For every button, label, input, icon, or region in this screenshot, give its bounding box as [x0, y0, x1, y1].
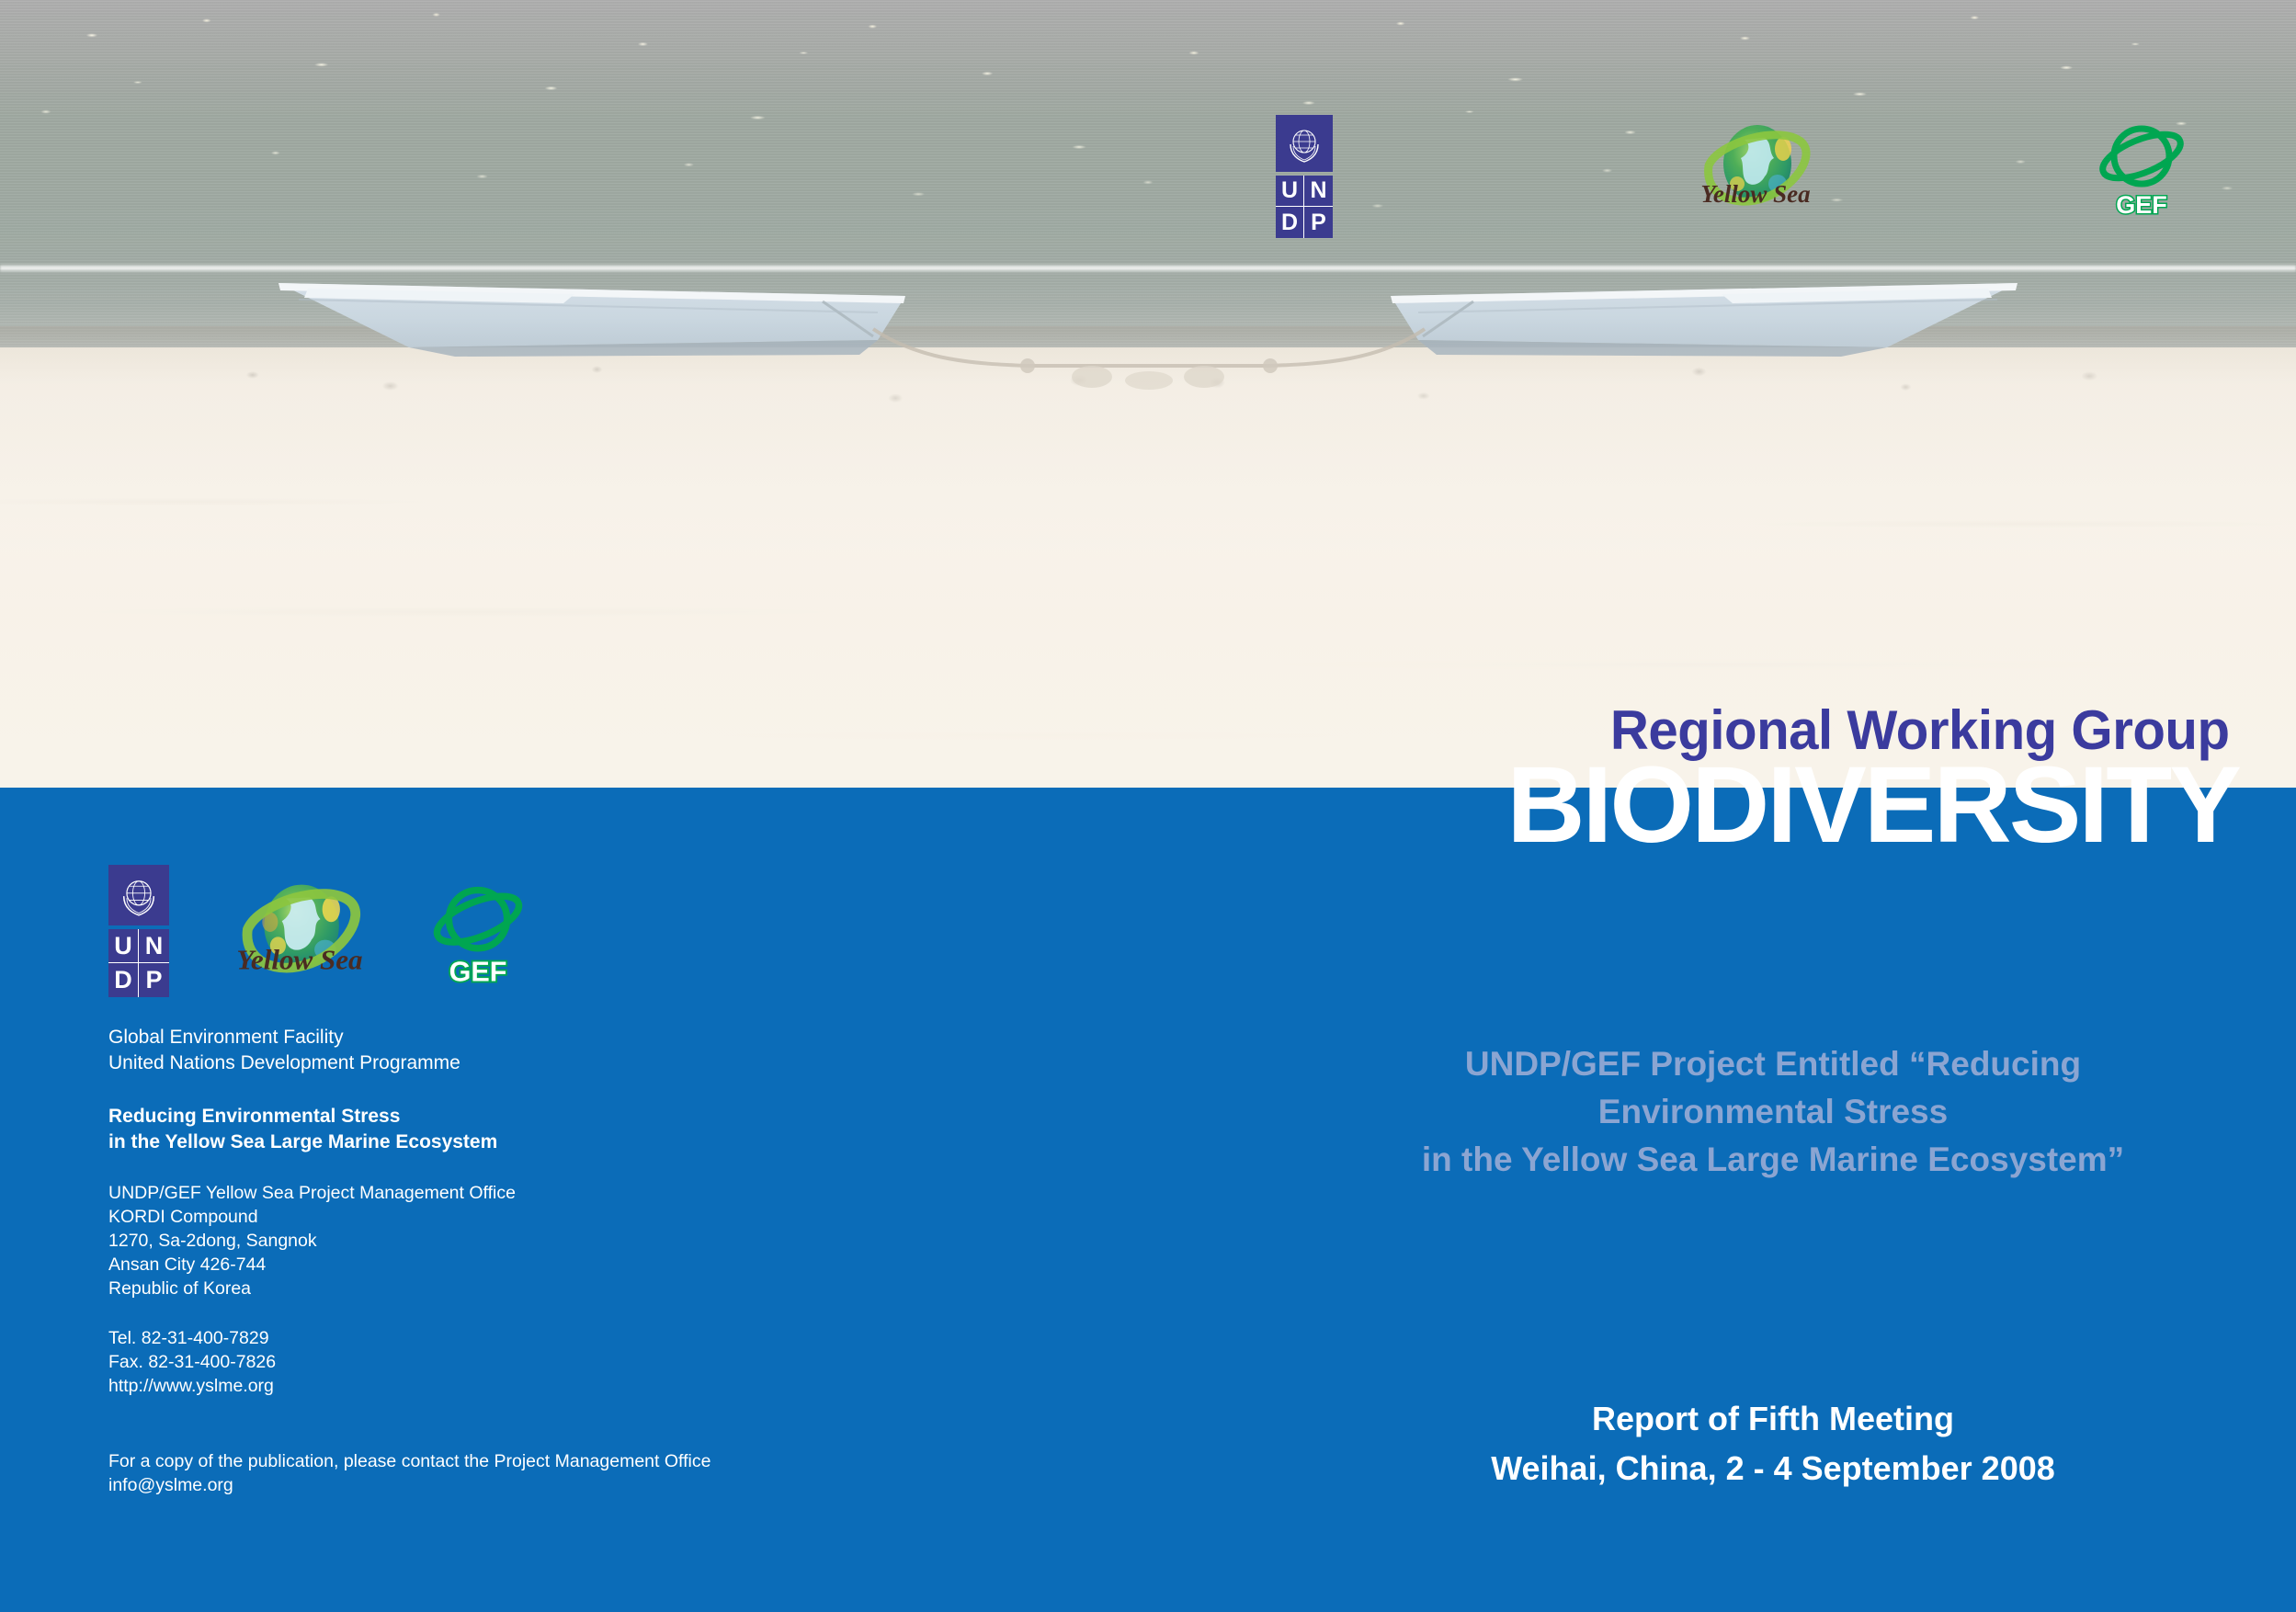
cover-photo: U N D P	[0, 0, 2296, 789]
undp-emblem-box	[1276, 115, 1333, 172]
blue-panel: U N D P	[0, 788, 2296, 1612]
email-link[interactable]: info@yslme.org	[108, 1473, 1028, 1497]
copy-notice: For a copy of the publication, please co…	[108, 1449, 1028, 1473]
yellow-sea-globe-icon: Yellow Sea	[222, 877, 377, 987]
undp-letter-n: N	[1304, 176, 1333, 207]
undp-letter-u: U	[1276, 176, 1304, 207]
undp-letters-box: U N D P	[1276, 176, 1333, 238]
sun-sparkles	[0, 0, 2296, 294]
address-line-2: KORDI Compound	[108, 1205, 1028, 1229]
organisation-block: Global Environment Facility United Natio…	[108, 1025, 1028, 1076]
project-title-line-1: UNDP/GEF Project Entitled “Reducing	[1250, 1040, 2296, 1088]
top-yellow-sea-logo: Yellow Sea	[1688, 118, 1824, 225]
boat-left	[271, 276, 915, 377]
org-line-2: United Nations Development Programme	[108, 1050, 1028, 1076]
un-emblem-icon	[116, 872, 162, 918]
yellow-sea-wordmark: Yellow Sea	[1700, 180, 1810, 208]
yellow-sea-globe-icon: Yellow Sea	[1688, 118, 1824, 221]
undp-letter-p: P	[1304, 207, 1333, 238]
copy-request-block: For a copy of the publication, please co…	[108, 1449, 1028, 1497]
top-undp-logo: U N D P	[1276, 115, 1333, 238]
gef-planet-icon: GEF	[430, 880, 526, 989]
undp-letter-n: N	[139, 929, 169, 963]
meeting-line-1: Report of Fifth Meeting	[1250, 1394, 2296, 1444]
project-name-block: Reducing Environmental Stress in the Yel…	[108, 1104, 1028, 1155]
panel-gef-logo: GEF	[430, 880, 526, 993]
gef-planet-icon: GEF	[2097, 118, 2186, 221]
undp-letter-p: P	[139, 963, 169, 997]
surf-line	[0, 264, 2296, 273]
meeting-info-block: Report of Fifth Meeting Weihai, China, 2…	[1250, 1394, 2296, 1493]
panel-undp-logo: U N D P	[108, 865, 169, 997]
address-line-4: Ansan City 426-744	[108, 1253, 1028, 1277]
project-title-block: UNDP/GEF Project Entitled “Reducing Envi…	[1250, 1040, 2296, 1184]
yellow-sea-wordmark: Yellow Sea	[236, 944, 362, 976]
panel-logo-row: U N D P	[108, 891, 1028, 997]
project-title-line-2: Environmental Stress	[1250, 1088, 2296, 1136]
meeting-line-2: Weihai, China, 2 - 4 September 2008	[1250, 1444, 2296, 1493]
website-link[interactable]: http://www.yslme.org	[108, 1374, 1028, 1398]
undp-emblem-box	[108, 865, 169, 925]
cover-page: U N D P	[0, 0, 2296, 1612]
address-line-5: Republic of Korea	[108, 1277, 1028, 1300]
un-emblem-icon	[1283, 122, 1325, 165]
project-line-2: in the Yellow Sea Large Marine Ecosystem	[108, 1130, 1028, 1155]
undp-letter-d: D	[1276, 207, 1304, 238]
undp-letters-box: U N D P	[108, 929, 169, 997]
contact-block: Tel. 82-31-400-7829 Fax. 82-31-400-7826 …	[108, 1326, 1028, 1398]
undp-letter-u: U	[108, 929, 139, 963]
gef-wordmark: GEF	[449, 957, 507, 988]
telephone: Tel. 82-31-400-7829	[108, 1326, 1028, 1350]
address-line-1: UNDP/GEF Yellow Sea Project Management O…	[108, 1181, 1028, 1205]
project-line-1: Reducing Environmental Stress	[108, 1104, 1028, 1130]
left-info-column: U N D P	[108, 891, 1028, 1497]
fax: Fax. 82-31-400-7826	[108, 1350, 1028, 1374]
address-block: UNDP/GEF Yellow Sea Project Management O…	[108, 1181, 1028, 1300]
top-gef-logo: GEF	[2097, 118, 2186, 225]
headline-biodiversity: BIODIVERSITY	[1506, 743, 2239, 868]
org-line-1: Global Environment Facility	[108, 1025, 1028, 1050]
panel-yellow-sea-logo: Yellow Sea	[222, 877, 377, 992]
undp-letter-d: D	[108, 963, 139, 997]
project-title-line-3: in the Yellow Sea Large Marine Ecosystem…	[1250, 1136, 2296, 1184]
address-line-3: 1270, Sa-2dong, Sangnok	[108, 1229, 1028, 1253]
center-rocks	[1066, 357, 1232, 390]
gef-wordmark: GEF	[2116, 191, 2167, 219]
boat-right	[1381, 276, 2025, 377]
